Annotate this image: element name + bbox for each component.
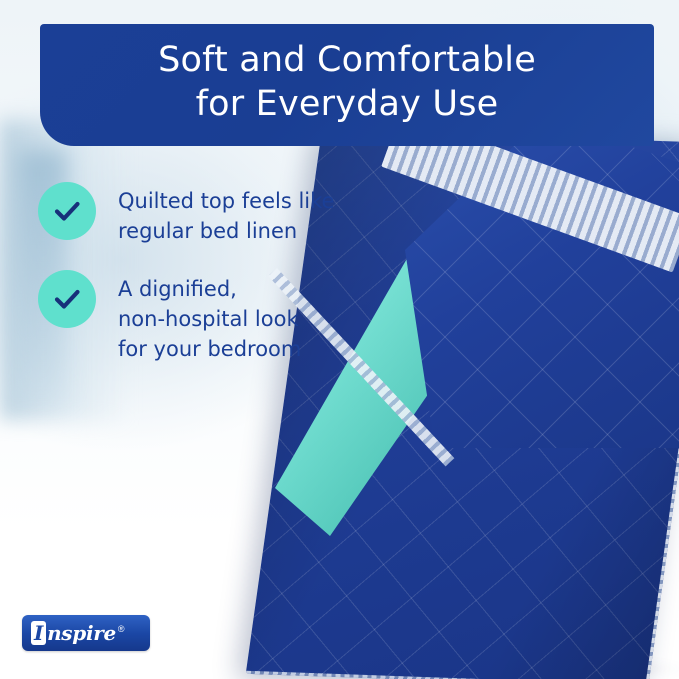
headline-line-1: Soft and Comfortable [158, 40, 536, 80]
brand-logo-text: Inspire® [31, 621, 124, 645]
feature-list: Quilted top feels like regular bed linen… [38, 182, 368, 386]
headline-line-2: for Everyday Use [40, 82, 654, 126]
feature-text-1: Quilted top feels like regular bed linen [118, 182, 368, 246]
list-item: A dignified, non-hospital look for your … [38, 270, 368, 364]
brand-logo-rest: nspire [47, 621, 116, 645]
headline-banner: Soft and Comfortable for Everyday Use [40, 24, 654, 146]
brand-logo: Inspire® [22, 615, 150, 651]
product-feature-image: Soft and Comfortable for Everyday Use Qu… [0, 0, 679, 679]
headline-text: Soft and Comfortable for Everyday Use [40, 38, 654, 126]
brand-logo-registered-mark: ® [118, 624, 124, 634]
list-item: Quilted top feels like regular bed linen [38, 182, 368, 248]
brand-logo-initial: I [31, 621, 46, 645]
check-icon [38, 270, 96, 328]
feature-text-2: A dignified, non-hospital look for your … [118, 270, 368, 364]
check-icon [38, 182, 96, 240]
